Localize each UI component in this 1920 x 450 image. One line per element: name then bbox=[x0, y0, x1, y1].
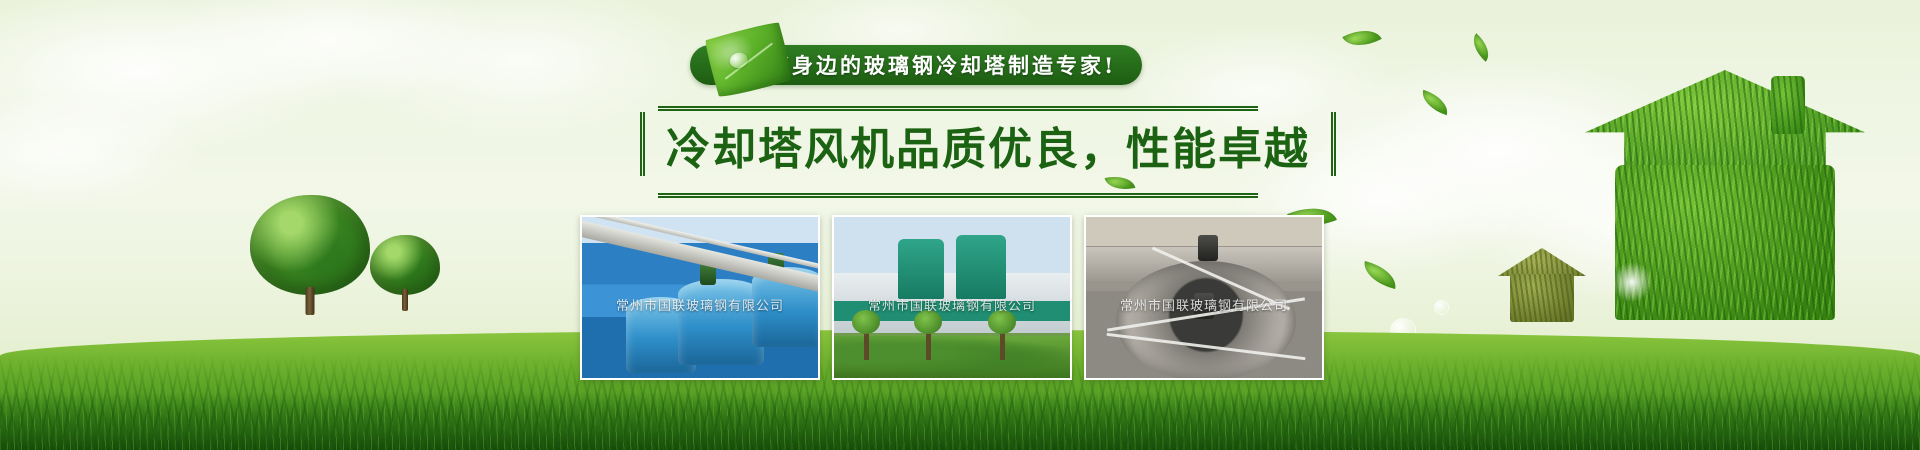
house-icon bbox=[1494, 248, 1590, 322]
leaf-icon bbox=[1418, 90, 1452, 115]
headline-text: 冷却塔风机品质优良，性能卓越 bbox=[666, 112, 1310, 190]
tagline-badge: 您身边的玻璃钢冷却塔制造专家! bbox=[690, 45, 1142, 85]
product-photo[interactable]: 常州市国联玻璃钢有限公司 bbox=[832, 215, 1072, 380]
headline-frame: 冷却塔风机品质优良，性能卓越 bbox=[640, 106, 1336, 198]
fan-motor bbox=[1198, 235, 1218, 261]
fan-shroud bbox=[1116, 261, 1296, 380]
product-photo[interactable]: 常州市国联玻璃钢有限公司 bbox=[1084, 215, 1324, 380]
product-photo-strip: 常州市国联玻璃钢有限公司 常州市国联玻璃钢有限公司 bbox=[580, 215, 1324, 380]
sapling-crown bbox=[988, 310, 1016, 334]
leaf-icon bbox=[1342, 21, 1381, 55]
leaf-icon bbox=[1360, 261, 1400, 289]
tagline-text: 您身边的玻璃钢冷却塔制造专家! bbox=[768, 50, 1116, 80]
headline-rule-bottom bbox=[658, 193, 1258, 198]
tree-crown bbox=[370, 235, 440, 295]
headline-bar-left bbox=[640, 112, 645, 176]
house-body bbox=[1510, 274, 1574, 322]
water-drop-icon bbox=[728, 51, 749, 70]
house-body bbox=[1615, 165, 1835, 320]
photo-scene bbox=[834, 217, 1070, 378]
hedge-row bbox=[834, 336, 1072, 378]
cooling-tower bbox=[956, 235, 1006, 299]
tree-trunk bbox=[402, 289, 408, 311]
headline-block: 冷却塔风机品质优良，性能卓越 bbox=[640, 100, 1336, 204]
cooling-tower bbox=[898, 239, 944, 299]
tree-icon bbox=[250, 195, 370, 313]
headline-rule-top bbox=[658, 106, 1258, 111]
house-chimney bbox=[1771, 76, 1805, 134]
photo-scene bbox=[1086, 217, 1322, 378]
tree-trunk bbox=[306, 287, 315, 315]
leaf-icon bbox=[703, 19, 795, 100]
bubble-icon bbox=[1434, 300, 1449, 315]
headline-bar-right bbox=[1331, 112, 1336, 176]
hero-banner: 您身边的玻璃钢冷却塔制造专家! 冷却塔风机品质优良，性能卓越 bbox=[0, 0, 1920, 450]
photo-scene bbox=[582, 217, 818, 378]
tree-crown bbox=[250, 195, 370, 295]
sapling-crown bbox=[914, 310, 942, 334]
leaf-icon bbox=[1466, 33, 1495, 62]
sparkle-icon bbox=[1612, 262, 1652, 302]
tree-icon bbox=[370, 235, 440, 315]
sapling-crown bbox=[852, 310, 880, 334]
product-photo[interactable]: 常州市国联玻璃钢有限公司 bbox=[580, 215, 820, 380]
